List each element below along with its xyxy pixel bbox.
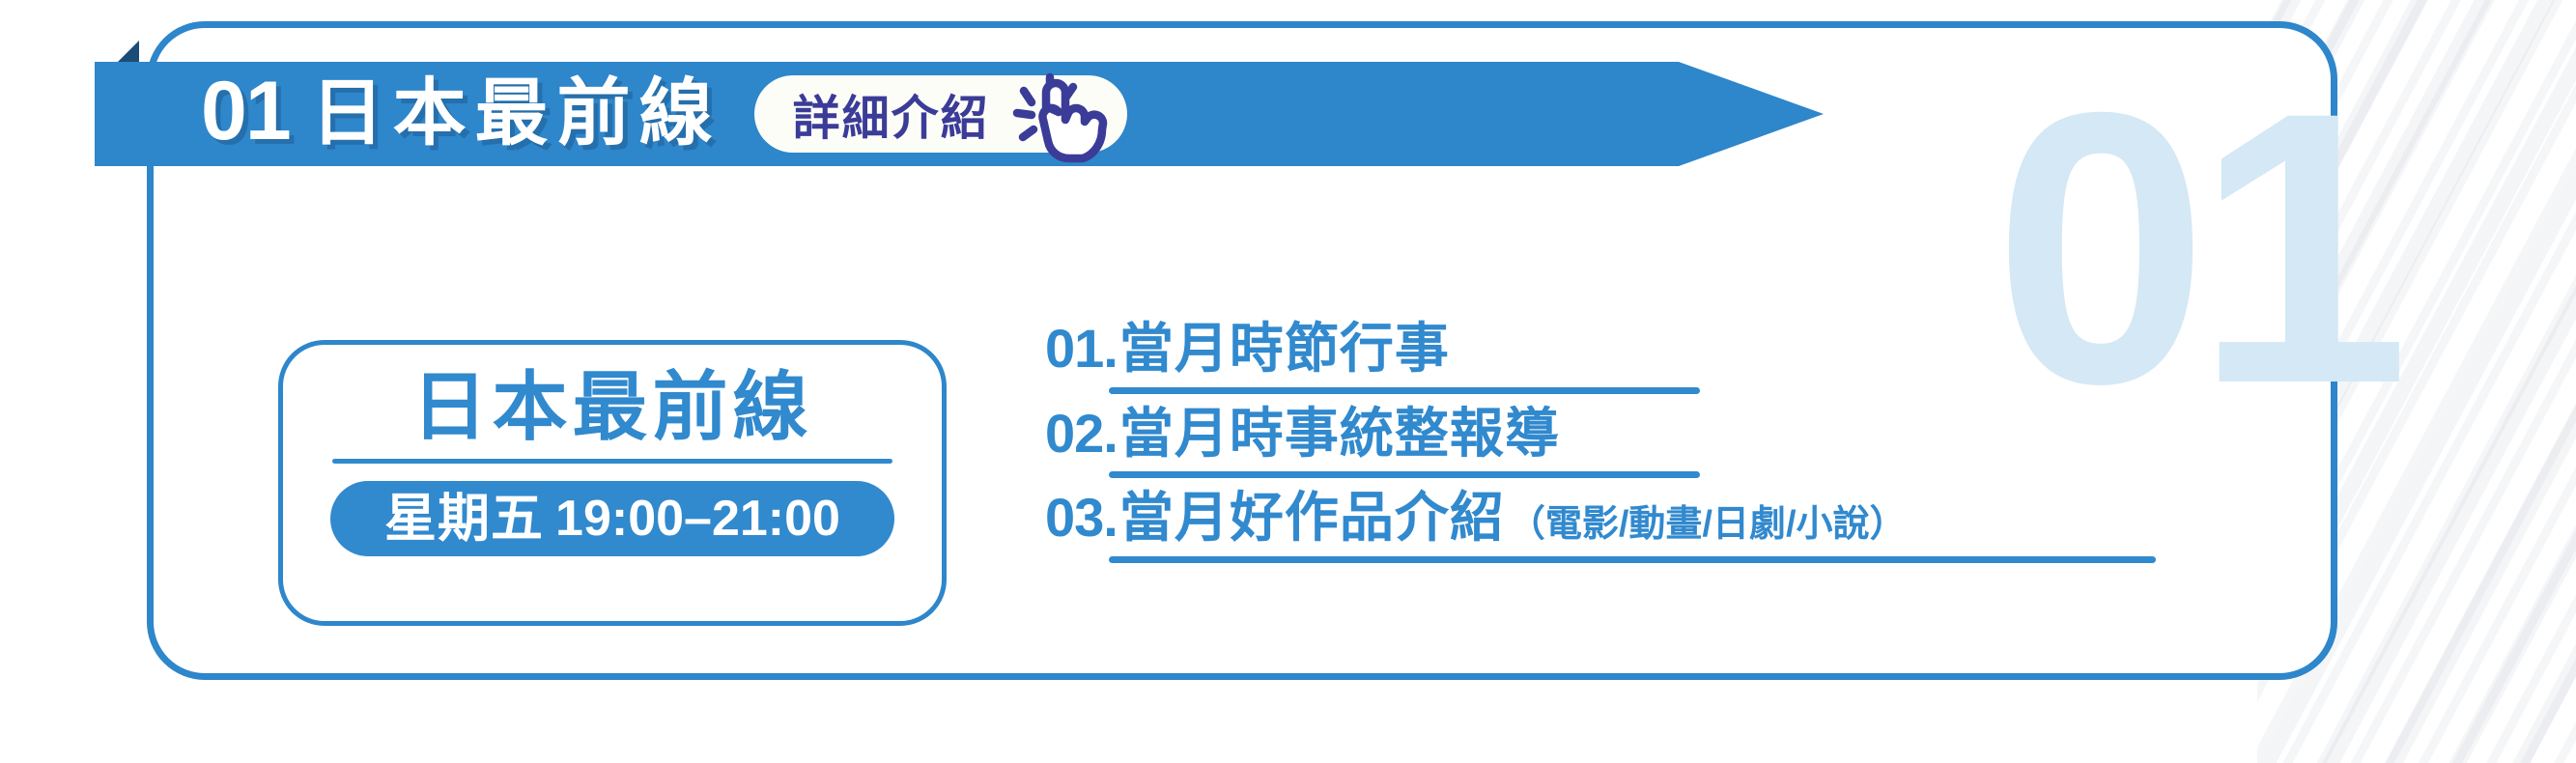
ribbon-body: 01 日本最前線 詳細介紹 xyxy=(95,62,1824,166)
topic-item-03-number: 03. xyxy=(1045,488,1118,549)
ribbon-title: 日本最前線 xyxy=(311,77,722,151)
topic-item-01-underline xyxy=(1109,387,1700,394)
topic-item-03-title: 當月好作品介紹 xyxy=(1119,488,1505,549)
topic-item-02-title: 當月時事統整報導 xyxy=(1119,404,1560,465)
pointing-hand-click-icon xyxy=(984,73,1092,155)
program-time-range: 19:00–21:00 xyxy=(555,494,840,544)
topic-item-02-text: 02. 當月時事統整報導 xyxy=(1045,404,2233,465)
topic-item-01-text: 01. 當月時節行事 xyxy=(1045,319,2233,380)
topic-item-03[interactable]: 03. 當月好作品介紹 （電影/動畫/日劇/小說） xyxy=(1045,488,2233,563)
program-info-box: 日本最前線 星期五 19:00–21:00 xyxy=(278,340,947,626)
topic-item-03-underline xyxy=(1109,556,2156,563)
topic-item-02[interactable]: 02. 當月時事統整報導 xyxy=(1045,404,2233,479)
topic-item-01[interactable]: 01. 當月時節行事 xyxy=(1045,319,2233,394)
topic-list: 01. 當月時節行事 02. 當月時事統整報導 03. 當月好作品介紹 （電影/… xyxy=(1045,319,2233,573)
ribbon-number: 01 xyxy=(201,70,290,153)
detail-intro-button-label: 詳細介紹 xyxy=(793,80,990,149)
program-title: 日本最前線 xyxy=(411,362,812,451)
program-time-badge: 星期五 19:00–21:00 xyxy=(330,481,894,556)
topic-item-02-underline xyxy=(1109,471,1700,478)
topic-item-02-number: 02. xyxy=(1045,404,1118,465)
topic-item-03-text: 03. 當月好作品介紹 （電影/動畫/日劇/小說） xyxy=(1045,488,2233,549)
detail-intro-button[interactable]: 詳細介紹 xyxy=(754,75,1127,153)
ribbon-content: 01 日本最前線 詳細介紹 xyxy=(201,72,1127,155)
topic-item-03-note: （電影/動畫/日劇/小說） xyxy=(1509,504,1907,546)
program-day: 星期五 xyxy=(384,493,544,545)
ribbon-banner: 01 日本最前線 詳細介紹 xyxy=(95,19,1824,166)
banner-canvas: 01 01 日本最前線 詳細介紹 xyxy=(0,0,2576,763)
topic-item-01-title: 當月時節行事 xyxy=(1119,319,1450,380)
topic-item-01-number: 01. xyxy=(1045,319,1118,380)
program-divider xyxy=(332,459,892,464)
